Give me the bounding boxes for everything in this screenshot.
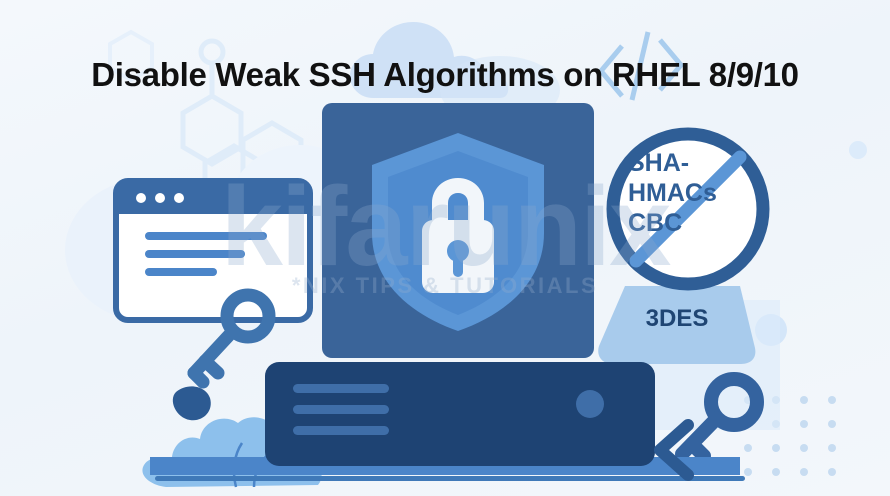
monitor-panel [322,103,594,358]
prohibition-sign [602,123,774,295]
server-indicator-light [576,390,604,418]
chevron-left-icon [648,415,708,485]
badge-3des-label: 3DES [617,305,737,333]
page-title: Disable Weak SSH Algorithms on RHEL 8/9/… [0,56,890,94]
illustration-banner: SHA- HMACs CBC 3DES [0,0,890,496]
decor-circle-topright [849,141,867,159]
server-rack [265,362,655,472]
window-dots [136,193,184,203]
server-status-bars [293,384,389,435]
